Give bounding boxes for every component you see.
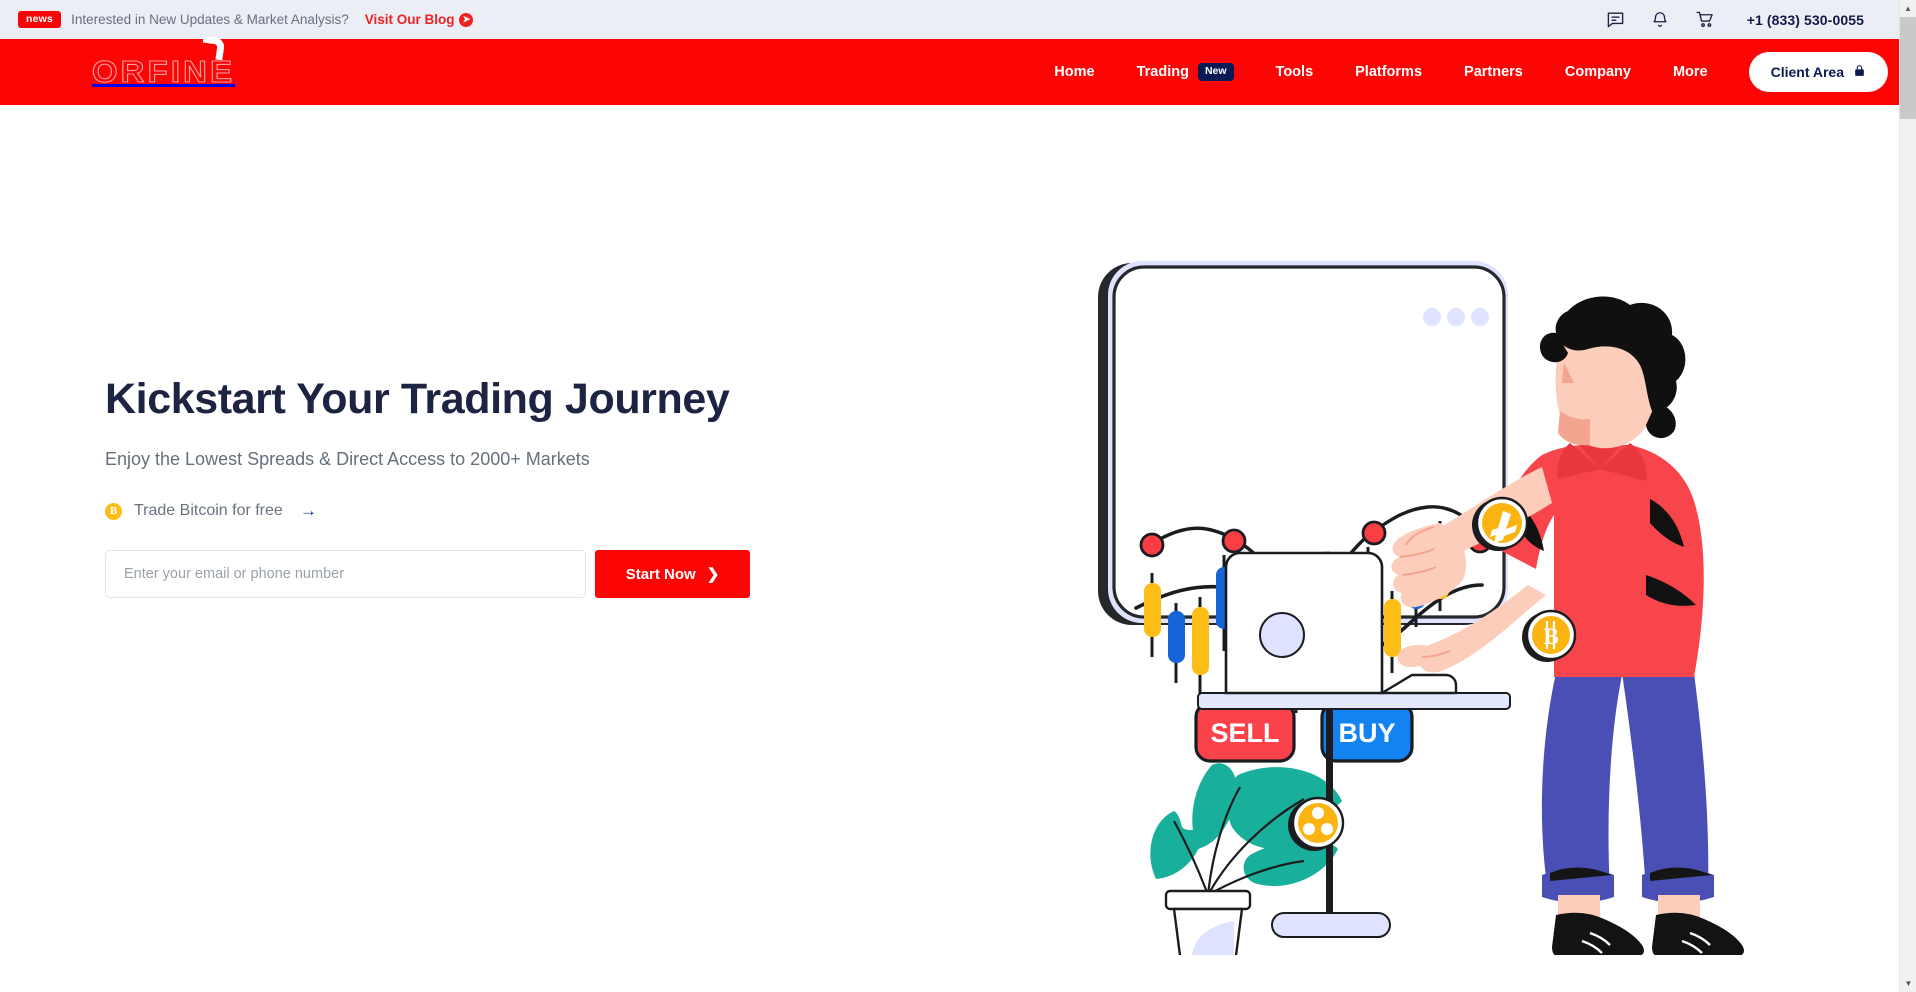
announcement-text: Interested in New Updates & Market Analy…: [71, 12, 349, 27]
scroll-down-arrow-icon[interactable]: ▼: [1900, 975, 1916, 992]
announcement-message: news Interested in New Updates & Market …: [18, 11, 473, 29]
client-area-label: Client Area: [1771, 64, 1844, 80]
scrollbar-thumb[interactable]: [1900, 17, 1916, 119]
scroll-up-arrow-icon[interactable]: ▲: [1900, 0, 1916, 17]
hero-illustration: SELL BUY: [1090, 255, 1830, 955]
page-scrollbar[interactable]: ▲ ▼: [1899, 0, 1916, 992]
nav-item-company[interactable]: Company: [1544, 39, 1652, 105]
nav-label: Platforms: [1355, 39, 1422, 105]
buy-button: BUY: [1322, 703, 1412, 761]
logo-swoosh-icon: [202, 37, 224, 59]
bitcoin-coin: B: [1522, 611, 1575, 662]
news-badge: news: [18, 11, 61, 29]
site-header: Orfine Home Trading New Tools Platforms …: [0, 39, 1916, 105]
nav-item-trading[interactable]: Trading New: [1116, 39, 1255, 105]
start-now-button[interactable]: Start Now ❯: [595, 550, 750, 598]
nav-label: Home: [1054, 39, 1094, 105]
nav-item-partners[interactable]: Partners: [1443, 39, 1544, 105]
main-navigation: Home Trading New Tools Platforms Partner…: [1033, 39, 1888, 105]
logo-text: Orfine: [92, 54, 235, 90]
nav-item-tools[interactable]: Tools: [1255, 39, 1335, 105]
arrow-right-circle-icon: ➤: [459, 13, 473, 27]
new-badge: New: [1198, 63, 1234, 81]
visit-blog-label: Visit Our Blog: [365, 12, 455, 27]
nav-item-home[interactable]: Home: [1033, 39, 1115, 105]
sell-button: SELL: [1196, 703, 1294, 761]
nav-item-more[interactable]: More: [1652, 39, 1729, 105]
hero-copy: Kickstart Your Trading Journey Enjoy the…: [105, 375, 825, 598]
cart-icon[interactable]: [1695, 10, 1715, 29]
email-input[interactable]: [105, 550, 586, 598]
bitcoin-icon: B: [105, 503, 122, 520]
trade-bitcoin-link[interactable]: B Trade Bitcoin for free →: [105, 501, 317, 521]
bell-icon[interactable]: [1651, 10, 1669, 29]
buy-label: BUY: [1338, 718, 1395, 748]
nav-item-platforms[interactable]: Platforms: [1334, 39, 1443, 105]
lock-icon: [1853, 63, 1866, 81]
visit-blog-link[interactable]: Visit Our Blog ➤: [365, 12, 474, 27]
trade-bitcoin-label: Trade Bitcoin for free: [134, 502, 283, 520]
chevron-right-icon: ❯: [707, 565, 720, 583]
nav-label: More: [1673, 39, 1708, 105]
hero-subtitle: Enjoy the Lowest Spreads & Direct Access…: [105, 449, 825, 470]
start-now-label: Start Now: [626, 566, 696, 583]
announcement-utilities: +1 (833) 530-0055: [1606, 10, 1892, 29]
svg-text:B: B: [1543, 624, 1558, 649]
announcement-bar: news Interested in New Updates & Market …: [0, 0, 1916, 39]
client-area-button[interactable]: Client Area: [1749, 52, 1888, 92]
hero-section: Kickstart Your Trading Journey Enjoy the…: [0, 105, 1916, 960]
chat-icon[interactable]: [1606, 10, 1625, 29]
logo[interactable]: Orfine: [96, 39, 326, 105]
nav-label: Company: [1565, 39, 1631, 105]
page-title: Kickstart Your Trading Journey: [105, 375, 825, 423]
arrow-right-icon: →: [300, 501, 317, 521]
signup-form: Start Now ❯: [105, 550, 750, 598]
phone-number[interactable]: +1 (833) 530-0055: [1747, 12, 1864, 28]
nav-label: Tools: [1276, 39, 1314, 105]
sell-label: SELL: [1210, 718, 1279, 748]
nav-label: Trading: [1137, 39, 1189, 105]
nav-label: Partners: [1464, 39, 1523, 105]
